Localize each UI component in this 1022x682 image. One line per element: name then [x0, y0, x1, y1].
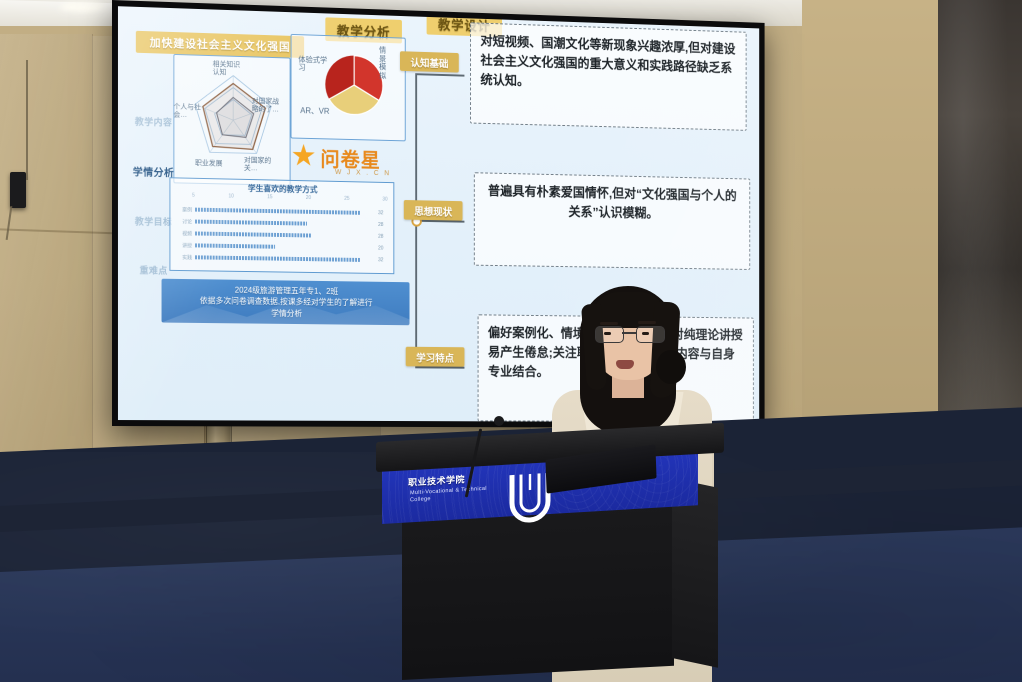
connector-branch-1	[415, 73, 464, 76]
radar-axis-label-4: 职业发展	[195, 160, 224, 168]
xtick-25: 25	[344, 196, 349, 204]
bar-category: 讨论	[174, 218, 192, 225]
wall-panel-1	[0, 34, 93, 504]
bar-track	[195, 208, 375, 215]
bar-track	[195, 231, 375, 238]
bar-row: 实践 32	[174, 252, 389, 265]
bar-row: 讲授 20	[174, 240, 389, 253]
bar-category: 案例	[174, 206, 192, 213]
bar-category: 视频	[174, 230, 192, 237]
tag-learning-traits: 学习特点	[406, 347, 465, 367]
bar-value: 32	[378, 210, 389, 216]
podium-side-panel	[672, 478, 718, 668]
presenter-eye-left	[604, 332, 611, 335]
wenjuanxing-name: 问卷星	[320, 143, 380, 173]
bar-fill	[195, 231, 311, 237]
bar-category: 讲授	[174, 242, 192, 249]
xtick-30: 30	[382, 197, 387, 205]
sidebar-item-teaching-content[interactable]: 教学内容	[135, 115, 173, 129]
lectern-podium: 职业技术学院 Multi-Vocational & Technical Coll…	[376, 438, 724, 682]
sidebar-item-key-points[interactable]: 重难点	[140, 263, 168, 276]
presenter-mouth	[616, 360, 634, 369]
microphone-head-icon	[494, 416, 504, 426]
tag-ideological-status: 思想现状	[404, 200, 463, 221]
presentation-room-photo: 加快建设社会主义文化强国 教学分析 教学设计 教学内容 学情分析 教学目标 重难…	[0, 0, 1022, 682]
glasses-lens-right	[636, 326, 665, 343]
pie-label-experiential: 体验式学习	[298, 56, 333, 73]
sidebar-item-teaching-goals[interactable]: 教学目标	[135, 214, 173, 228]
pie-label-arvr: AR、VR	[300, 107, 339, 117]
star-icon: ★	[291, 141, 317, 171]
bar-fill	[195, 208, 361, 215]
xtick-5: 5	[192, 193, 195, 201]
slide-summary-banner: 2024级旅游管理五年专1、2班 依据多次问卷调查数据,按课多经对学生的了解进行…	[162, 279, 410, 326]
radar-axis-label-1: 相关知识认知	[213, 61, 246, 77]
bar-value: 32	[378, 257, 389, 263]
presenter-brow-right	[638, 321, 656, 324]
bar-fill	[195, 243, 275, 248]
bar-track	[195, 243, 375, 250]
xtick-20: 20	[306, 195, 311, 203]
bar-fill	[195, 255, 361, 262]
bar-value: 20	[378, 246, 389, 252]
bar-track	[195, 255, 375, 262]
radar-axis-label-2: 对国家战略的了…	[252, 98, 283, 114]
sidebar-item-student-analysis[interactable]: 学情分析	[133, 163, 175, 179]
wenjuanxing-domain: W J X . C N	[335, 169, 391, 177]
xtick-15: 15	[267, 194, 272, 202]
wall-speaker	[10, 172, 26, 208]
bar-track	[195, 220, 375, 227]
bar-chart-panel: 学生喜欢的教学方式 5 10 15 20 25 30 案例 32	[169, 177, 394, 274]
tag-cognitive-basis: 认知基础	[400, 51, 459, 72]
bar-value: 28	[378, 234, 389, 240]
bar-value: 28	[378, 222, 389, 228]
bar-fill	[195, 220, 307, 226]
radar-axis-label-3: 对国家的关…	[244, 157, 273, 173]
radar-axis-label-5: 个人与社会…	[173, 104, 202, 120]
speaker-cable	[26, 60, 28, 180]
presenter-hair-bun	[656, 350, 686, 384]
pie-label-scenario: 情景模拟	[379, 47, 389, 81]
bar-category: 实践	[174, 254, 192, 261]
presenter-brow-left	[600, 322, 618, 325]
ceiling-light-1	[60, 2, 106, 12]
glasses-bridge	[622, 332, 636, 334]
slide-title-bar: 加快建设社会主义文化强国	[136, 31, 304, 58]
xtick-10: 10	[228, 193, 233, 201]
content-box-cognitive-basis: 对短视频、国潮文化等新现象兴趣浓厚,但对建设社会主义文化强国的重大意义和实践路径…	[470, 22, 747, 131]
content-box-ideological-status: 普遍具有朴素爱国情怀,但对“文化强国与个人的关系”认识模糊。	[474, 172, 750, 270]
presenter-eye-right	[642, 332, 649, 335]
